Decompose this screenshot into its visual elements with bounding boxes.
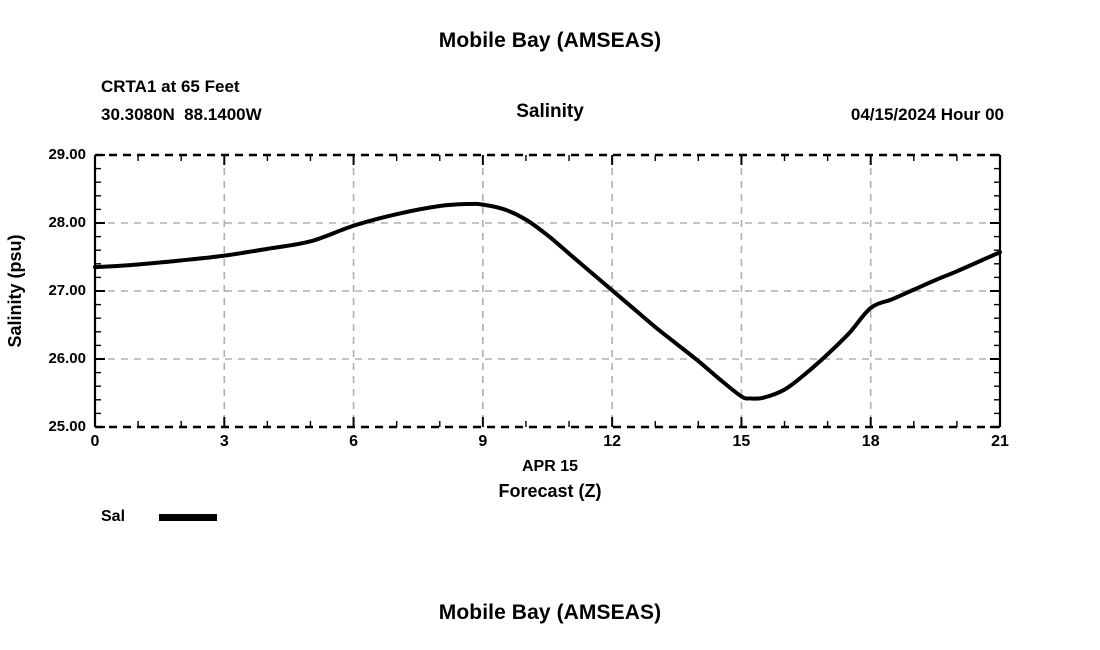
- x-tick-label: 0: [65, 434, 125, 450]
- x-tick-label: 15: [711, 434, 771, 450]
- chart-page: Mobile Bay (AMSEAS) CRTA1 at 65 Feet 30.…: [0, 0, 1100, 650]
- legend-label-sal: Sal: [101, 508, 159, 526]
- x-axis-date-label: APR 15: [0, 458, 1100, 476]
- x-tick-label: 9: [453, 434, 513, 450]
- x-tick-label: 18: [841, 434, 901, 450]
- legend-swatch-sal: [159, 514, 217, 521]
- x-axis-title: Forecast (Z): [0, 481, 1100, 502]
- chart-bottom-title: Mobile Bay (AMSEAS): [0, 601, 1100, 625]
- x-tick-label: 12: [582, 434, 642, 450]
- x-axis-tick-labels: 036912151821: [0, 0, 1100, 650]
- x-tick-label: 3: [194, 434, 254, 450]
- chart-legend: Sal: [101, 508, 217, 526]
- x-tick-label: 6: [324, 434, 384, 450]
- x-tick-label: 21: [970, 434, 1030, 450]
